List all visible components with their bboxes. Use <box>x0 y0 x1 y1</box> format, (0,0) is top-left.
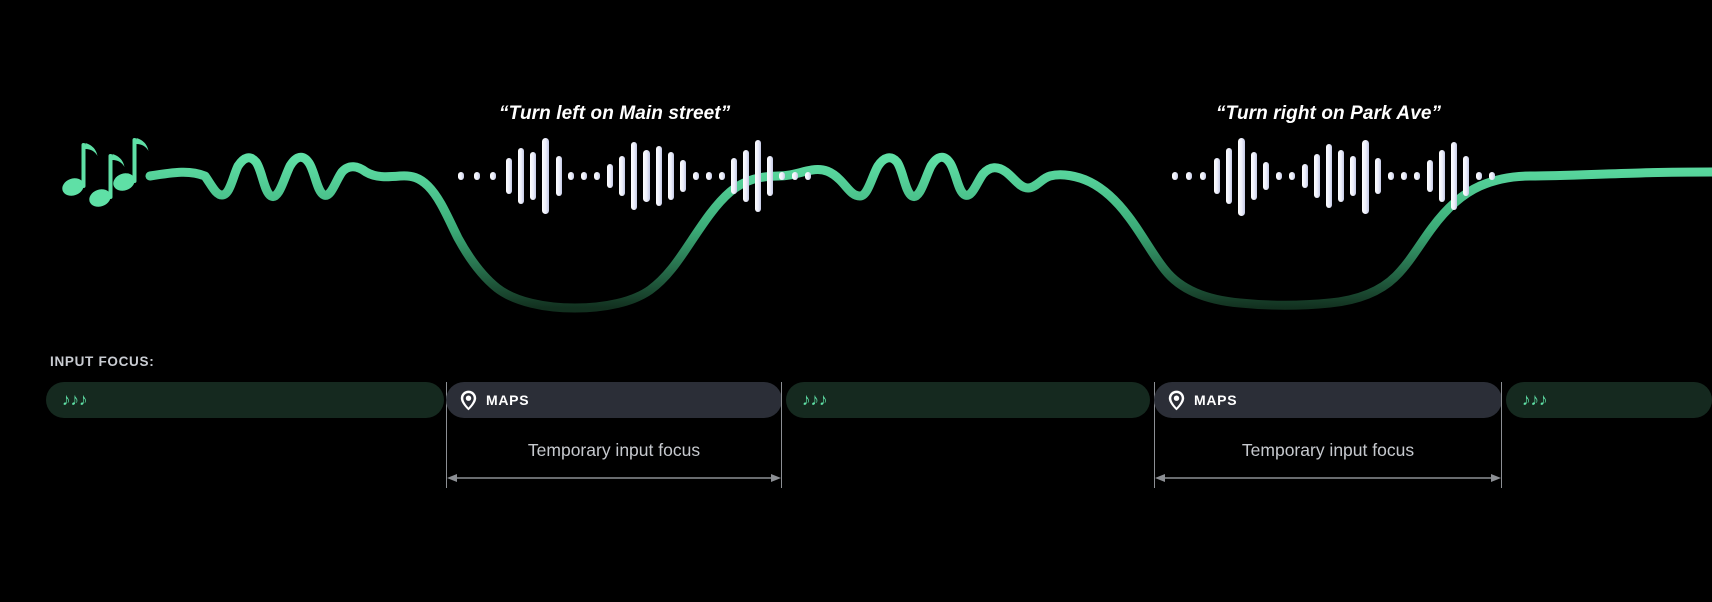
voice-caption-1: “Turn left on Main street” <box>499 103 730 125</box>
temporary-focus-arrow-1 <box>446 470 782 486</box>
voice-burst-1 <box>458 138 811 214</box>
music-notes-icon: ♪♪♪ <box>802 391 828 408</box>
focus-segment-label: MAPS <box>1194 392 1237 408</box>
map-pin-icon <box>1168 390 1185 411</box>
map-pin-icon <box>460 390 477 411</box>
temporary-focus-note-1: Temporary input focus <box>446 440 782 461</box>
music-level-line <box>150 157 1712 308</box>
input-focus-label: INPUT FOCUS: <box>50 354 154 369</box>
focus-segment-music-1[interactable]: ♪♪♪ <box>46 382 444 418</box>
illustration-canvas: “Turn left on Main street” “Turn right o… <box>0 0 1712 602</box>
music-notes-icon <box>60 138 149 210</box>
focus-segment-maps-1[interactable]: MAPS <box>446 382 782 418</box>
temporary-focus-note-2: Temporary input focus <box>1154 440 1502 461</box>
temporary-focus-arrow-2 <box>1154 470 1502 486</box>
focus-segment-maps-2[interactable]: MAPS <box>1154 382 1502 418</box>
focus-segment-label: MAPS <box>486 392 529 408</box>
input-focus-track: ♪♪♪ MAPS Temporary input focus ♪♪♪ <box>0 382 1712 602</box>
music-notes-icon: ♪♪♪ <box>62 391 88 408</box>
focus-segment-music-2[interactable]: ♪♪♪ <box>786 382 1150 418</box>
waveform-area: “Turn left on Main street” “Turn right o… <box>0 0 1712 330</box>
waveform-svg <box>0 0 1712 330</box>
focus-segment-music-3[interactable]: ♪♪♪ <box>1506 382 1712 418</box>
voice-caption-2: “Turn right on Park Ave” <box>1216 103 1441 125</box>
music-notes-icon: ♪♪♪ <box>1522 391 1548 408</box>
